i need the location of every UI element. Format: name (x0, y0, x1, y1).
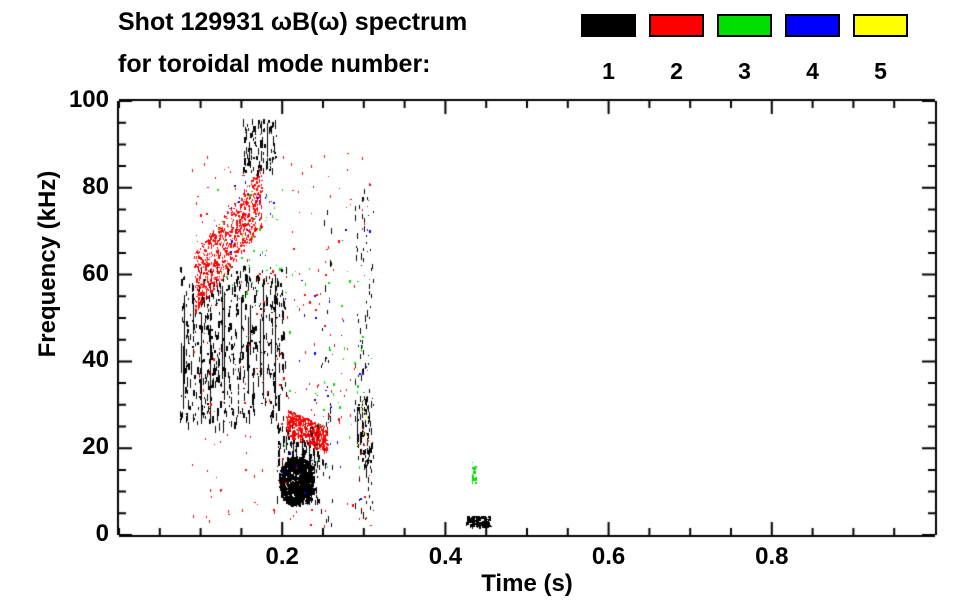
y-tick-label-100: 100 (19, 86, 109, 114)
y-tick-label-80: 80 (19, 173, 109, 201)
x-tick-label-0.4: 0.4 (400, 543, 490, 571)
x-axis-label: Time (s) (119, 570, 935, 598)
y-tick-label-40: 40 (19, 346, 109, 374)
x-tick-label-0.6: 0.6 (564, 543, 654, 571)
y-axis-label: Frequency (kHz) (34, 154, 62, 374)
y-tick-label-60: 60 (19, 260, 109, 288)
spectrogram-plot-area (0, 0, 963, 615)
figure-root: Shot 129931 ωB(ω) spectrum for toroidal … (0, 0, 963, 615)
y-tick-label-0: 0 (19, 520, 109, 548)
x-tick-label-0.8: 0.8 (727, 543, 817, 571)
y-tick-label-20: 20 (19, 433, 109, 461)
x-tick-label-0.2: 0.2 (237, 543, 327, 571)
